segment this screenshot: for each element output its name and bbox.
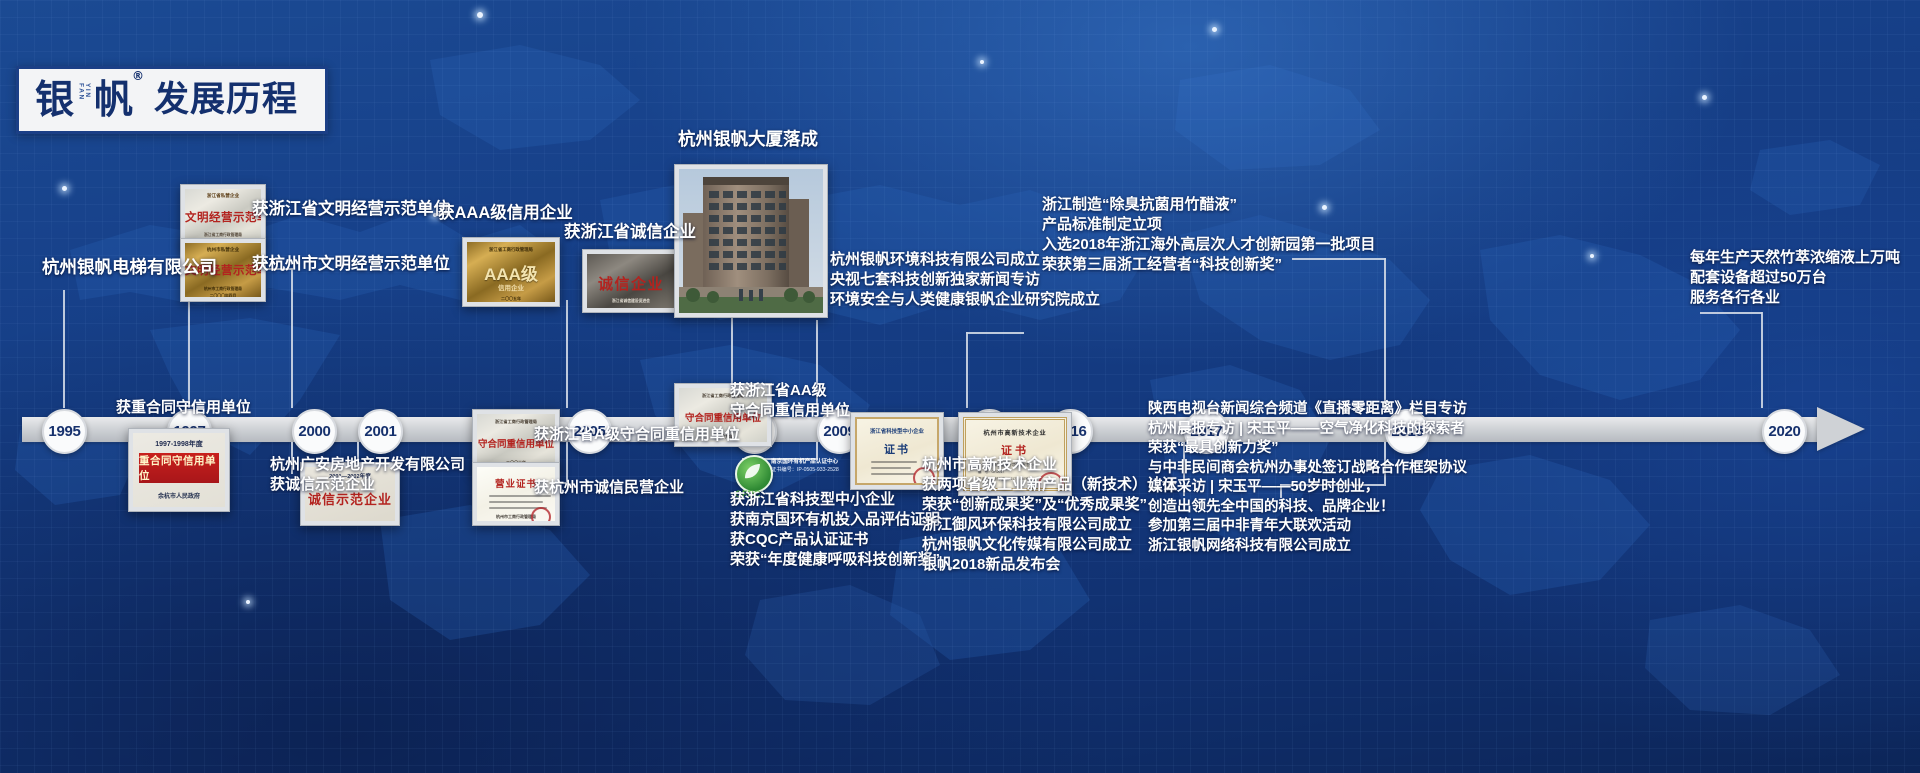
connector-2009-down-a — [816, 442, 818, 458]
logo-pinyin: YIN FAN — [77, 83, 90, 117]
connector-2018-up-a — [1384, 258, 1386, 408]
label-2000-below: 杭州广安房地产开发有限公司 获诚信示范企业 — [270, 455, 465, 495]
plaque-subtitle: 信用企业 — [467, 282, 555, 292]
connector-2020-up-b — [1700, 312, 1762, 314]
logo-word-yin: 银 — [35, 81, 73, 120]
year-node-2001[interactable]: 2001 — [358, 409, 403, 454]
year-label: 2001 — [364, 423, 396, 440]
year-node-2020[interactable]: 2020 — [1762, 409, 1807, 454]
cert-header: 1997-1998年度 — [133, 439, 225, 449]
photo-yinfan-building — [674, 164, 828, 318]
year-label: 2000 — [298, 423, 330, 440]
connector-2015-up — [966, 332, 968, 408]
timeline-arrow-icon — [1817, 407, 1865, 451]
year-label: 2020 — [1768, 423, 1800, 440]
page-title: 发展历程 — [154, 83, 298, 118]
logo-word-fan: 帆 ® — [94, 81, 143, 120]
connector-1995 — [63, 290, 65, 408]
label-2009-photo-caption: 杭州银帆大厦落成 — [678, 128, 818, 151]
plaque-header: 浙江省私营企业 — [185, 193, 261, 199]
label-1997-below: 获重合同守信用单位 — [116, 398, 251, 418]
connector-2020-up — [1761, 312, 1763, 408]
building-illustration — [679, 169, 823, 313]
year-node-2000[interactable]: 2000 — [292, 409, 337, 454]
cert-footer: 余杭市人民政府 — [133, 491, 225, 500]
cert-title: 重合同守信用单位 — [139, 453, 219, 483]
plaque-footer-2: 二〇〇〇年四月 — [185, 294, 261, 297]
cert-contract-1997: 1997-1998年度 重合同守信用单位 余杭市人民政府 — [128, 428, 230, 512]
label-2018-above: 浙江制造“除臭抗菌用竹醋液” 产品标准制定立项 入选2018年浙江海外高层次人才… — [1042, 195, 1375, 275]
connector-1997-up-a — [188, 296, 190, 408]
label-2017: 杭州市高新技术企业 获两项省级工业新产品（新技术）认证 荣获“创新成果奖”及“优… — [922, 455, 1177, 575]
plaque-footer: 杭州市工商行政管理局 — [185, 287, 261, 292]
label-2003-below: 获浙江省A级守合同重信用单位 — [534, 425, 740, 445]
organic-cert-icon — [735, 455, 773, 493]
label-2000-above: 获杭州市文明经营示范单位 — [252, 254, 450, 275]
plaque-title: 文明经营示范单位 — [185, 209, 261, 225]
label-2006-above: 获浙江省诚信企业 — [564, 222, 696, 243]
plaque-title: 诚信企业 — [587, 273, 675, 294]
organic-cert-text-1: 南京国环有机产品认证中心 — [771, 457, 838, 465]
label-2005-above: 获AAA级信用企业 — [438, 203, 573, 224]
label-2018-below: 陕西电视台新闻综合频道《直播零距离》栏目专访 杭州晨报专访 | 宋玉平——空气净… — [1148, 400, 1467, 556]
connector-2005-down-a — [566, 442, 568, 482]
label-2016: 获浙江省科技型中小企业 获南京国环有机投入品评估证明 获CQC产品认证证书 荣获… — [730, 490, 940, 570]
cert-header: 杭州市高新技术企业 — [966, 428, 1064, 437]
plaque-footer: 浙江省诚信建设促进会 — [587, 299, 675, 304]
infographic-canvas: 银 YIN FAN 帆 ® 发展历程 1995 1997 2000 2001 2… — [0, 0, 1920, 773]
connector-2015-up-b — [966, 332, 1024, 334]
timeline-axis: 1995 1997 2000 2001 2003 2005 2006 2009 … — [22, 417, 1884, 442]
label-1997-above: 获浙江省文明经营示范单位 — [252, 199, 450, 220]
plaque-integrity-enterprise: 诚信企业 浙江省诚信建设促进会 — [582, 249, 680, 313]
plaque-footer: 二〇〇五年 — [467, 296, 555, 302]
plaque-aaa-credit: 浙江省工商行政管理局 AAA级 信用企业 二〇〇五年 — [462, 237, 560, 307]
label-2020: 每年生产天然竹萃浓缩液上万吨 配套设备超过50万台 服务各行各业 — [1690, 248, 1900, 308]
connector-2005-up — [566, 300, 568, 408]
year-node-1995[interactable]: 1995 — [42, 409, 87, 454]
registered-mark-icon: ® — [132, 70, 143, 82]
plaque-header: 杭州市私营企业 — [185, 247, 261, 253]
label-2009-below: 获浙江省AA级 守合同重信用单位 — [730, 381, 850, 421]
logo-word-fan-text: 帆 — [94, 81, 132, 120]
title-banner: 银 YIN FAN 帆 ® 发展历程 — [16, 66, 328, 134]
connector-2000-up-a — [291, 268, 293, 408]
organic-cert-text-2: 证书编号：IP-0505-933-2528 — [771, 466, 839, 473]
plaque-header: 浙江省工商行政管理局 — [467, 247, 555, 253]
label-2005-below: 获杭州市诚信民营企业 — [534, 478, 684, 498]
label-1995: 杭州银帆电梯有限公司 — [42, 256, 217, 279]
cert-header: 浙江省科技型中小企业 — [857, 427, 937, 435]
year-label: 1995 — [48, 423, 80, 440]
